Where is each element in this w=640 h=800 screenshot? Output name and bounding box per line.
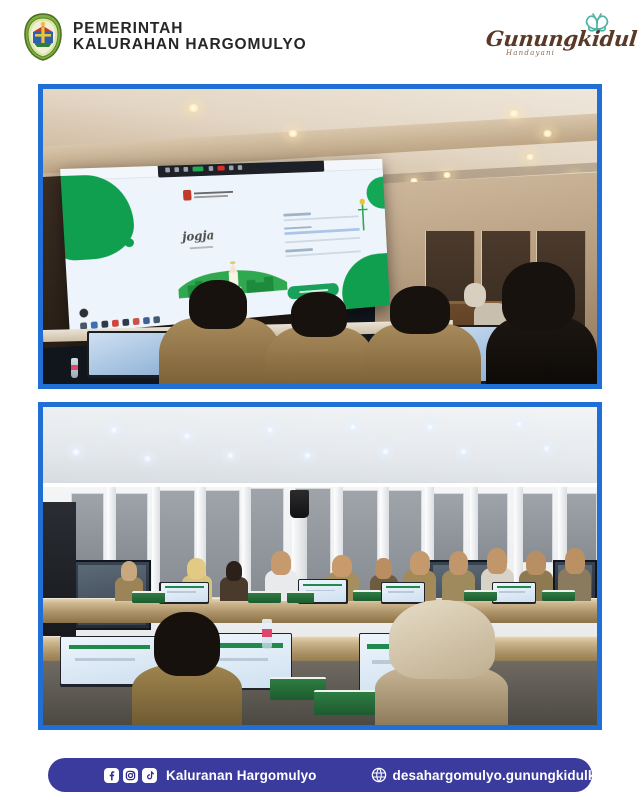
site-logo: [183, 188, 233, 201]
jogja-brand-underline: [190, 245, 213, 248]
ceiling-speaker: [290, 490, 310, 519]
control-icon: [229, 165, 234, 170]
taskbar-icon[interactable]: [143, 317, 150, 324]
downlight: [303, 452, 312, 459]
poster-page: PEMERINTAH KALURAHAN HARGOMULYO: [0, 0, 640, 800]
downlight: [459, 448, 468, 455]
end-call-icon: [218, 165, 225, 170]
facebook-icon[interactable]: [104, 768, 119, 783]
snack-box: [314, 690, 375, 715]
acoustic-panel: [115, 493, 148, 563]
street-lamp-illustration: [357, 197, 368, 230]
header-identity: PEMERINTAH KALURAHAN HARGOMULYO: [22, 12, 307, 62]
downlight: [348, 423, 358, 431]
taskbar-icon[interactable]: [122, 318, 129, 325]
taskbar-icon[interactable]: [91, 321, 98, 328]
header-title-line-1: PEMERINTAH: [73, 21, 307, 37]
control-icon: [238, 164, 243, 169]
downlight: [187, 104, 200, 112]
page-header: PEMERINTAH KALURAHAN HARGOMULYO: [0, 0, 640, 78]
participant: [220, 563, 248, 601]
form-field-label: [284, 225, 311, 229]
water-bottle: [262, 619, 272, 649]
audience-member: [364, 284, 480, 384]
downlight: [542, 445, 551, 452]
desktop-orb-icon: [79, 308, 88, 318]
water-bottle: [71, 358, 78, 378]
photo-meeting-projector-screen: jogja: [38, 84, 602, 389]
photo-meeting-room-participants: [38, 402, 602, 730]
audience-member: [159, 278, 281, 384]
form-field-label: [284, 212, 311, 216]
downlight: [226, 452, 235, 459]
downlight: [508, 110, 520, 117]
header-title-block: PEMERINTAH KALURAHAN HARGOMULYO: [73, 21, 307, 54]
control-icon: [165, 167, 170, 172]
snack-box: [287, 591, 315, 602]
tiktok-icon[interactable]: [142, 768, 157, 783]
audience-member: [265, 290, 376, 384]
ceiling: [43, 407, 597, 490]
downlight: [525, 154, 535, 160]
login-form[interactable]: [284, 210, 364, 263]
globe-icon: [371, 767, 387, 783]
brand-tagline: Handayani: [506, 49, 555, 57]
downlight: [514, 420, 524, 428]
decorative-green-dot: [125, 237, 135, 246]
laptop: [87, 331, 170, 378]
brand-script-text: Gunungkidul: [485, 26, 638, 51]
snack-box: [542, 590, 575, 601]
header-title-line-2: KALURAHAN HARGOMULYO: [73, 37, 307, 53]
decorative-green-blob: [60, 173, 136, 263]
footer-bar: Kaluranan Hargomulyo desahargomulyo.gunu…: [48, 758, 592, 792]
jogja-brand-text: jogja: [182, 228, 215, 244]
form-helper-line: [285, 237, 360, 243]
laptop: [159, 582, 209, 604]
captcha-label: [286, 248, 313, 252]
join-button-icon: [193, 166, 204, 171]
snack-box: [248, 591, 281, 602]
control-icon: [208, 165, 213, 170]
snack-box: [132, 591, 165, 602]
participant-foreground: [375, 598, 508, 725]
footer-website-group[interactable]: desahargomulyo.gunungkidulkab.go.id: [371, 767, 640, 783]
site-logo-wordmark: [194, 190, 233, 197]
taskbar-icon[interactable]: [133, 318, 140, 325]
footer-website-url: desahargomulyo.gunungkidulkab.go.id: [393, 768, 640, 783]
taskbar-icon[interactable]: [101, 320, 108, 327]
participant-foreground: [132, 607, 243, 725]
footer-social-group[interactable]: Kaluranan Hargomulyo: [104, 768, 317, 783]
instagram-icon[interactable]: [123, 768, 138, 783]
downlight: [265, 426, 275, 434]
left-dark-wall: [43, 502, 76, 648]
downlight: [442, 172, 452, 178]
control-icon: [184, 166, 189, 171]
site-logo-mark-icon: [183, 190, 192, 201]
taskbar-icon[interactable]: [112, 319, 119, 326]
audience-member: [486, 254, 597, 384]
gunungkidul-brand-logo: Gunungkidul Handayani: [478, 8, 618, 66]
control-icon: [174, 166, 179, 171]
downlight: [143, 455, 152, 462]
gunungkidul-regency-crest-icon: [22, 12, 64, 62]
footer-social-label: Kaluranan Hargomulyo: [166, 768, 317, 783]
